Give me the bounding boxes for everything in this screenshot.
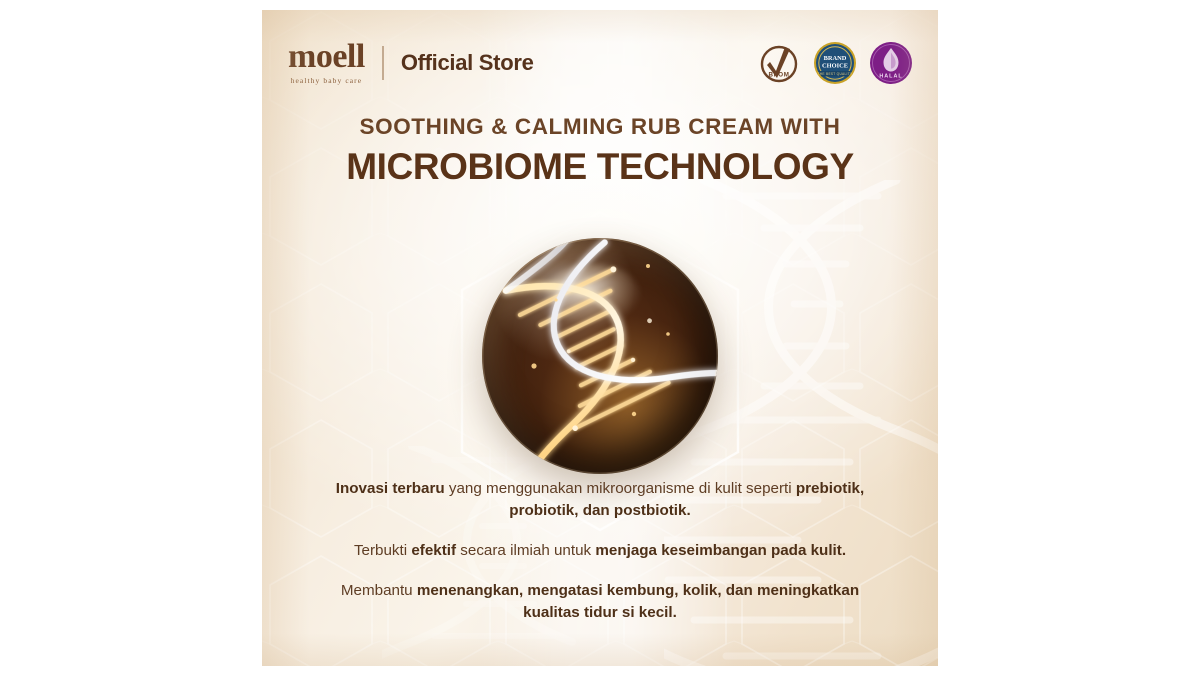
svg-text:BPOM: BPOM	[769, 71, 790, 78]
moell-logo: moell healthy baby care	[288, 41, 365, 85]
bpom-badge-icon: BPOM	[756, 40, 802, 86]
body-paragraph: Terbukti efektif secara ilmiah untuk men…	[324, 540, 876, 562]
sphere-rim-light	[482, 238, 718, 474]
body-paragraph: Inovasi terbaru yang menggunakan mikroor…	[324, 478, 876, 522]
poster-header: moell healthy baby care Official Store B…	[262, 32, 938, 94]
headline-title: MICROBIOME TECHNOLOGY	[286, 146, 914, 188]
official-store-label: Official Store	[401, 50, 534, 76]
svg-text:BRAND: BRAND	[824, 55, 847, 62]
svg-text:CHOICE: CHOICE	[822, 62, 848, 69]
brand-divider	[382, 46, 384, 80]
screenshot-stage: moell healthy baby care Official Store B…	[0, 0, 1200, 675]
svg-text:HALAL: HALAL	[879, 74, 902, 80]
headline-subtitle: SOOTHING & CALMING RUB CREAM WITH	[286, 114, 914, 140]
certification-badges: BPOM BRAND CHOICE THE BEST QUALITY	[756, 40, 914, 86]
dark-sphere	[482, 238, 718, 474]
moell-logo-wordmark: moell	[288, 41, 365, 73]
dna-sphere-hero	[482, 238, 718, 474]
moell-logo-tagline: healthy baby care	[291, 77, 363, 85]
brand-choice-badge-icon: BRAND CHOICE THE BEST QUALITY	[812, 40, 858, 86]
body-paragraph: Membantu menenangkan, mengatasi kembung,…	[324, 580, 876, 624]
svg-text:THE BEST QUALITY: THE BEST QUALITY	[818, 72, 853, 76]
brand-lockup: moell healthy baby care Official Store	[288, 41, 534, 85]
headline-block: SOOTHING & CALMING RUB CREAM WITH MICROB…	[262, 114, 938, 188]
halal-badge-icon: HALAL	[868, 40, 914, 86]
promo-poster: moell healthy baby care Official Store B…	[262, 10, 938, 666]
body-copy: Inovasi terbaru yang menggunakan mikroor…	[262, 478, 938, 624]
